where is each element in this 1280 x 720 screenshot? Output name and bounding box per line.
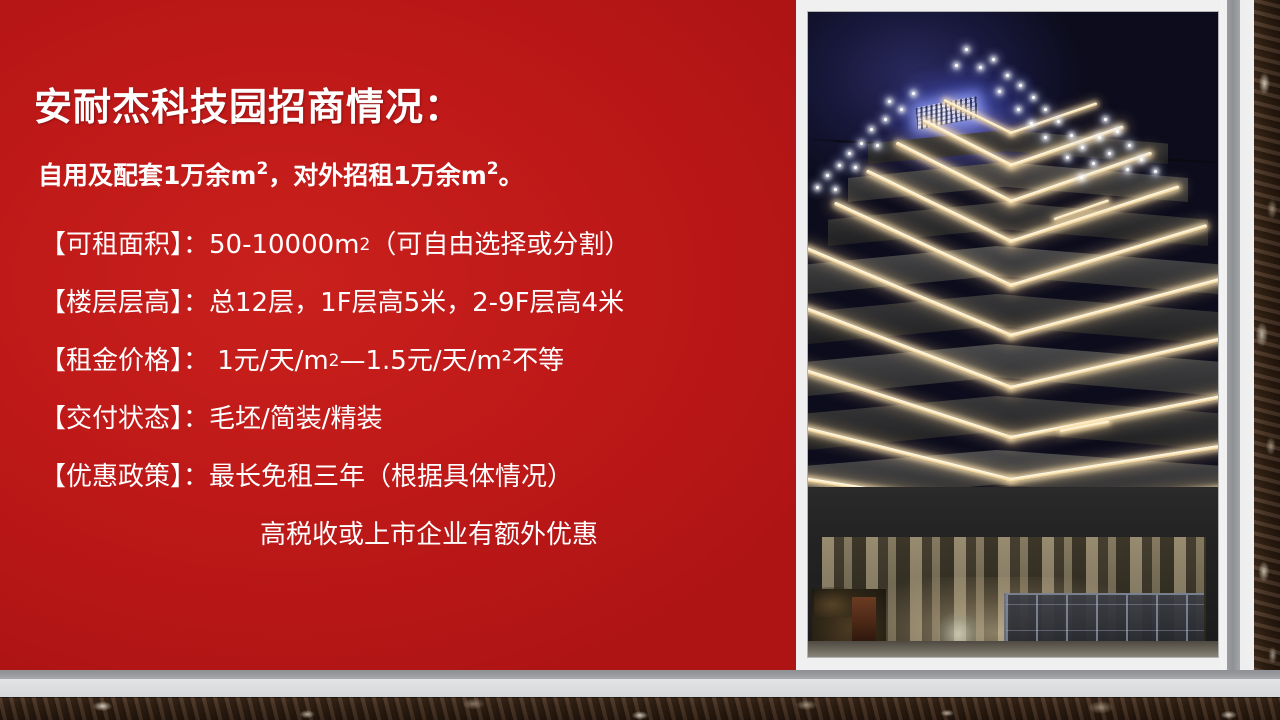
list-item: 【交付状态】：毛坯/简装/精装 xyxy=(40,390,790,448)
bottom-stone-texture xyxy=(0,697,1280,720)
bullet-list: 【可租面积】：50-10000m2（可自由选择或分割） 【楼层层高】：总12层，… xyxy=(40,216,790,564)
list-item: 【优惠政策】：最长免租三年（根据具体情况） xyxy=(40,448,790,506)
bullet-text: 【可租面积】：50-10000m xyxy=(40,232,360,258)
equipment xyxy=(852,597,876,641)
subtitle-superscript-2: 2 xyxy=(487,159,499,179)
subtitle-superscript-1: 2 xyxy=(256,159,268,179)
red-content-panel: 安耐杰科技园招商情况： 自用及配套1万余m2，对外招租1万余m2。 【可租面积】… xyxy=(0,0,796,670)
bullet-superscript: 2 xyxy=(360,237,371,254)
bottom-gray-shadow-bar xyxy=(0,670,1280,679)
subtitle-end: 。 xyxy=(499,161,524,190)
page-title: 安耐杰科技园招商情况： xyxy=(34,88,463,126)
bullet-tail: —1.5元/天/m²不等 xyxy=(339,348,564,374)
bullet-text: 高税收或上市企业有额外优惠 xyxy=(260,522,598,548)
bullet-text: 【交付状态】：毛坯/简装/精装 xyxy=(40,406,383,432)
bullet-superscript: 2 xyxy=(329,353,340,370)
bullet-text: 【租金价格】： 1元/天/m xyxy=(40,348,329,374)
right-gray-bar xyxy=(1227,0,1240,697)
bullet-text: 【楼层层高】：总12层，1F层高5米，2-9F层高4米 xyxy=(40,290,624,316)
building-podium xyxy=(808,487,1218,657)
slide-canvas: 安耐杰科技园招商情况： 自用及配套1万余m2，对外招租1万余m2。 【可租面积】… xyxy=(0,0,1280,720)
list-item: 【楼层层高】：总12层，1F层高5米，2-9F层高4米 xyxy=(40,274,790,332)
stone-top-edge xyxy=(0,697,1280,698)
right-stone-texture xyxy=(1254,0,1280,697)
list-item: 【可租面积】：50-10000m2（可自由选择或分割） xyxy=(40,216,790,274)
bullet-text: 【优惠政策】：最长免租三年（根据具体情况） xyxy=(40,464,573,490)
bottom-gray-band xyxy=(0,679,1280,697)
bullet-tail: （可自由选择或分割） xyxy=(370,232,630,258)
flower-bed xyxy=(938,613,978,643)
building-night-photo xyxy=(808,12,1218,657)
list-item: 高税收或上市企业有额外优惠 xyxy=(40,506,790,564)
ground-pavement xyxy=(808,641,1218,657)
list-item: 【租金价格】： 1元/天/m2—1.5元/天/m²不等 xyxy=(40,332,790,390)
subtitle-middle: ，对外招租1万余m xyxy=(268,161,486,190)
subtitle-line: 自用及配套1万余m2，对外招租1万余m2。 xyxy=(38,161,524,188)
subtitle-main: 自用及配套1万余m xyxy=(38,161,256,190)
